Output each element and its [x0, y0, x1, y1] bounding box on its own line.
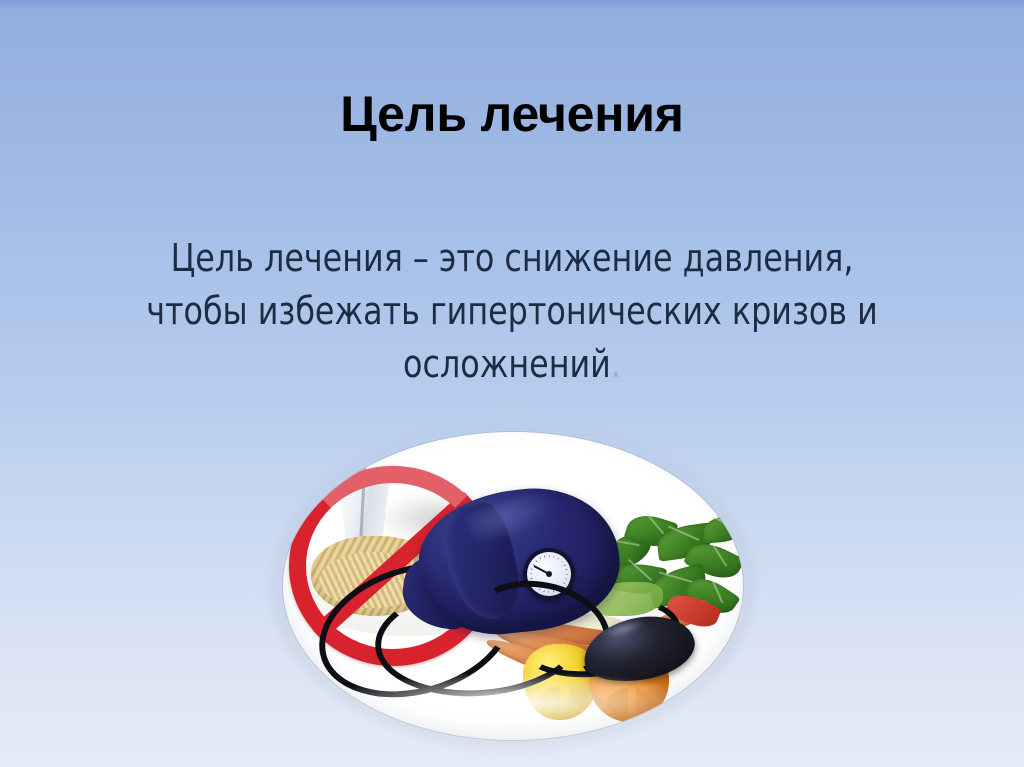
blood-pressure-and-diet-image	[283, 432, 743, 740]
page-title: Цель лечения	[0, 84, 1024, 144]
gauge-hub	[546, 571, 552, 577]
oval-photo-frame	[283, 432, 743, 740]
body-line-2: чтобы избежать гипертонических кризов и	[94, 285, 931, 338]
leaf-icon	[702, 515, 743, 544]
body-line-1: Цель лечения – это снижение давления,	[94, 232, 931, 285]
oval-bottom-sheen	[323, 672, 703, 734]
presentation-slide: Цель лечения Цель лечения – это снижение…	[0, 0, 1024, 767]
body-final-period: .	[611, 342, 621, 386]
body-line-3: осложнений.	[94, 338, 931, 391]
body-line-3-text: осложнений	[403, 342, 611, 386]
oval-photo-content	[283, 432, 743, 740]
body-paragraph: Цель лечения – это снижение давления, чт…	[94, 232, 931, 391]
